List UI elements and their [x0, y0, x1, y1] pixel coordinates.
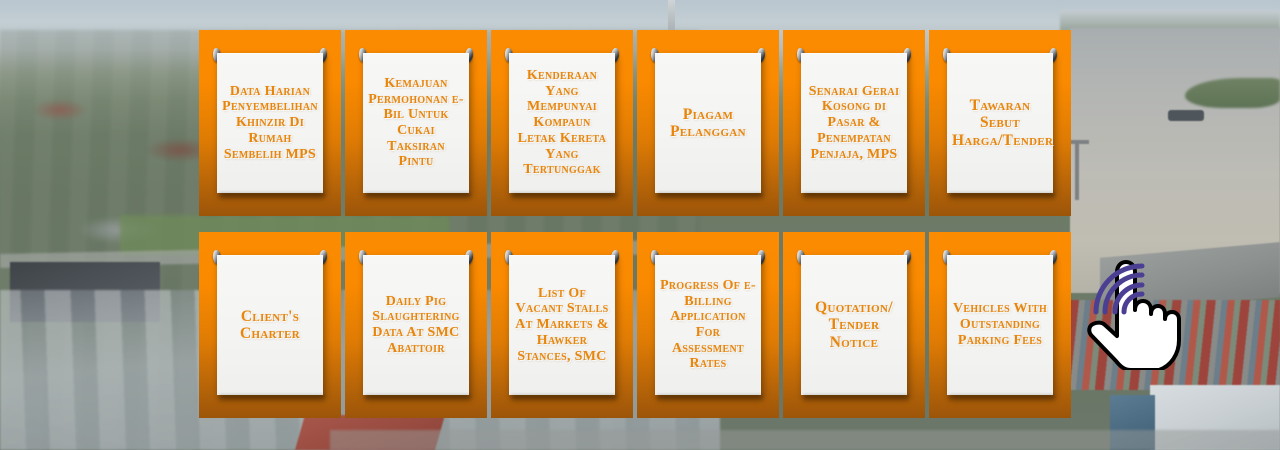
card-label: List Of Vacant Stalls At Markets & Hawke…: [514, 286, 610, 364]
card-sheet: Progress Of e-Billing Application For As…: [655, 255, 761, 395]
service-card-data-harian-penyembelihan-khinzir[interactable]: Data Harian Penyembelihan Khinzir Di Rum…: [199, 30, 341, 216]
card-sheet-shadow: [219, 395, 325, 402]
card-label: Client's Charter: [222, 308, 318, 343]
service-card-kenderaan-kompaun-letak-kereta[interactable]: Kenderaan Yang Mempunyai Kompaun Letak K…: [491, 30, 633, 216]
card-label: Vehicles With Outstanding Parking Fees: [952, 301, 1048, 348]
card-label: Kenderaan Yang Mempunyai Kompaun Letak K…: [514, 68, 610, 178]
service-card-vehicles-with-outstanding-parking-fees[interactable]: Vehicles With Outstanding Parking Fees: [929, 232, 1071, 418]
page-root: Data Harian Penyembelihan Khinzir Di Rum…: [0, 0, 1280, 450]
card-sheet-shadow: [949, 193, 1055, 200]
card-sheet: Quotation/ Tender Notice: [801, 255, 907, 395]
service-card-clients-charter[interactable]: Client's Charter: [199, 232, 341, 418]
card-label: Progress Of e-Billing Application For As…: [660, 278, 756, 372]
service-card-tawaran-sebut-harga-tender[interactable]: Tawaran Sebut Harga/Tender: [929, 30, 1071, 216]
card-sheet-shadow: [803, 395, 909, 402]
card-sheet-shadow: [365, 395, 471, 402]
card-sheet-shadow: [657, 395, 763, 402]
card-sheet: Tawaran Sebut Harga/Tender: [947, 53, 1053, 193]
card-sheet: Data Harian Penyembelihan Khinzir Di Rum…: [217, 53, 323, 193]
card-sheet: Senarai Gerai Kosong di Pasar & Penempat…: [801, 53, 907, 193]
service-card-progress-of-e-billing-application[interactable]: Progress Of e-Billing Application For As…: [637, 232, 779, 418]
card-sheet: Kemajuan Permohonan e-Bil Untuk Cukai Ta…: [363, 53, 469, 193]
service-card-daily-pig-slaughtering-data[interactable]: Daily Pig Slaughtering Data At SMC Abatt…: [345, 232, 487, 418]
service-card-senarai-gerai-kosong[interactable]: Senarai Gerai Kosong di Pasar & Penempat…: [783, 30, 925, 216]
card-label: Tawaran Sebut Harga/Tender: [952, 97, 1048, 149]
card-sheet: Client's Charter: [217, 255, 323, 395]
card-sheet-shadow: [657, 193, 763, 200]
card-label: Quotation/ Tender Notice: [806, 299, 902, 351]
card-sheet: List Of Vacant Stalls At Markets & Hawke…: [509, 255, 615, 395]
card-label: Piagam Pelanggan: [660, 106, 756, 141]
card-label: Data Harian Penyembelihan Khinzir Di Rum…: [222, 84, 318, 162]
card-sheet-shadow: [219, 193, 325, 200]
card-sheet: Piagam Pelanggan: [655, 53, 761, 193]
card-sheet-shadow: [803, 193, 909, 200]
service-card-kemajuan-permohonan-e-bil[interactable]: Kemajuan Permohonan e-Bil Untuk Cukai Ta…: [345, 30, 487, 216]
card-label: Kemajuan Permohonan e-Bil Untuk Cukai Ta…: [368, 76, 464, 170]
service-card-grid: Data Harian Penyembelihan Khinzir Di Rum…: [199, 30, 1079, 420]
card-label: Senarai Gerai Kosong di Pasar & Penempat…: [806, 84, 902, 162]
card-sheet-shadow: [511, 395, 617, 402]
service-card-quotation-tender-notice[interactable]: Quotation/ Tender Notice: [783, 232, 925, 418]
service-card-piagam-pelanggan[interactable]: Piagam Pelanggan: [637, 30, 779, 216]
card-sheet-shadow: [949, 395, 1055, 402]
card-sheet: Daily Pig Slaughtering Data At SMC Abatt…: [363, 255, 469, 395]
card-label: Daily Pig Slaughtering Data At SMC Abatt…: [368, 294, 464, 357]
card-sheet: Kenderaan Yang Mempunyai Kompaun Letak K…: [509, 53, 615, 193]
card-sheet: Vehicles With Outstanding Parking Fees: [947, 255, 1053, 395]
card-sheet-shadow: [365, 193, 471, 200]
card-sheet-shadow: [511, 193, 617, 200]
service-card-list-of-vacant-stalls[interactable]: List Of Vacant Stalls At Markets & Hawke…: [491, 232, 633, 418]
